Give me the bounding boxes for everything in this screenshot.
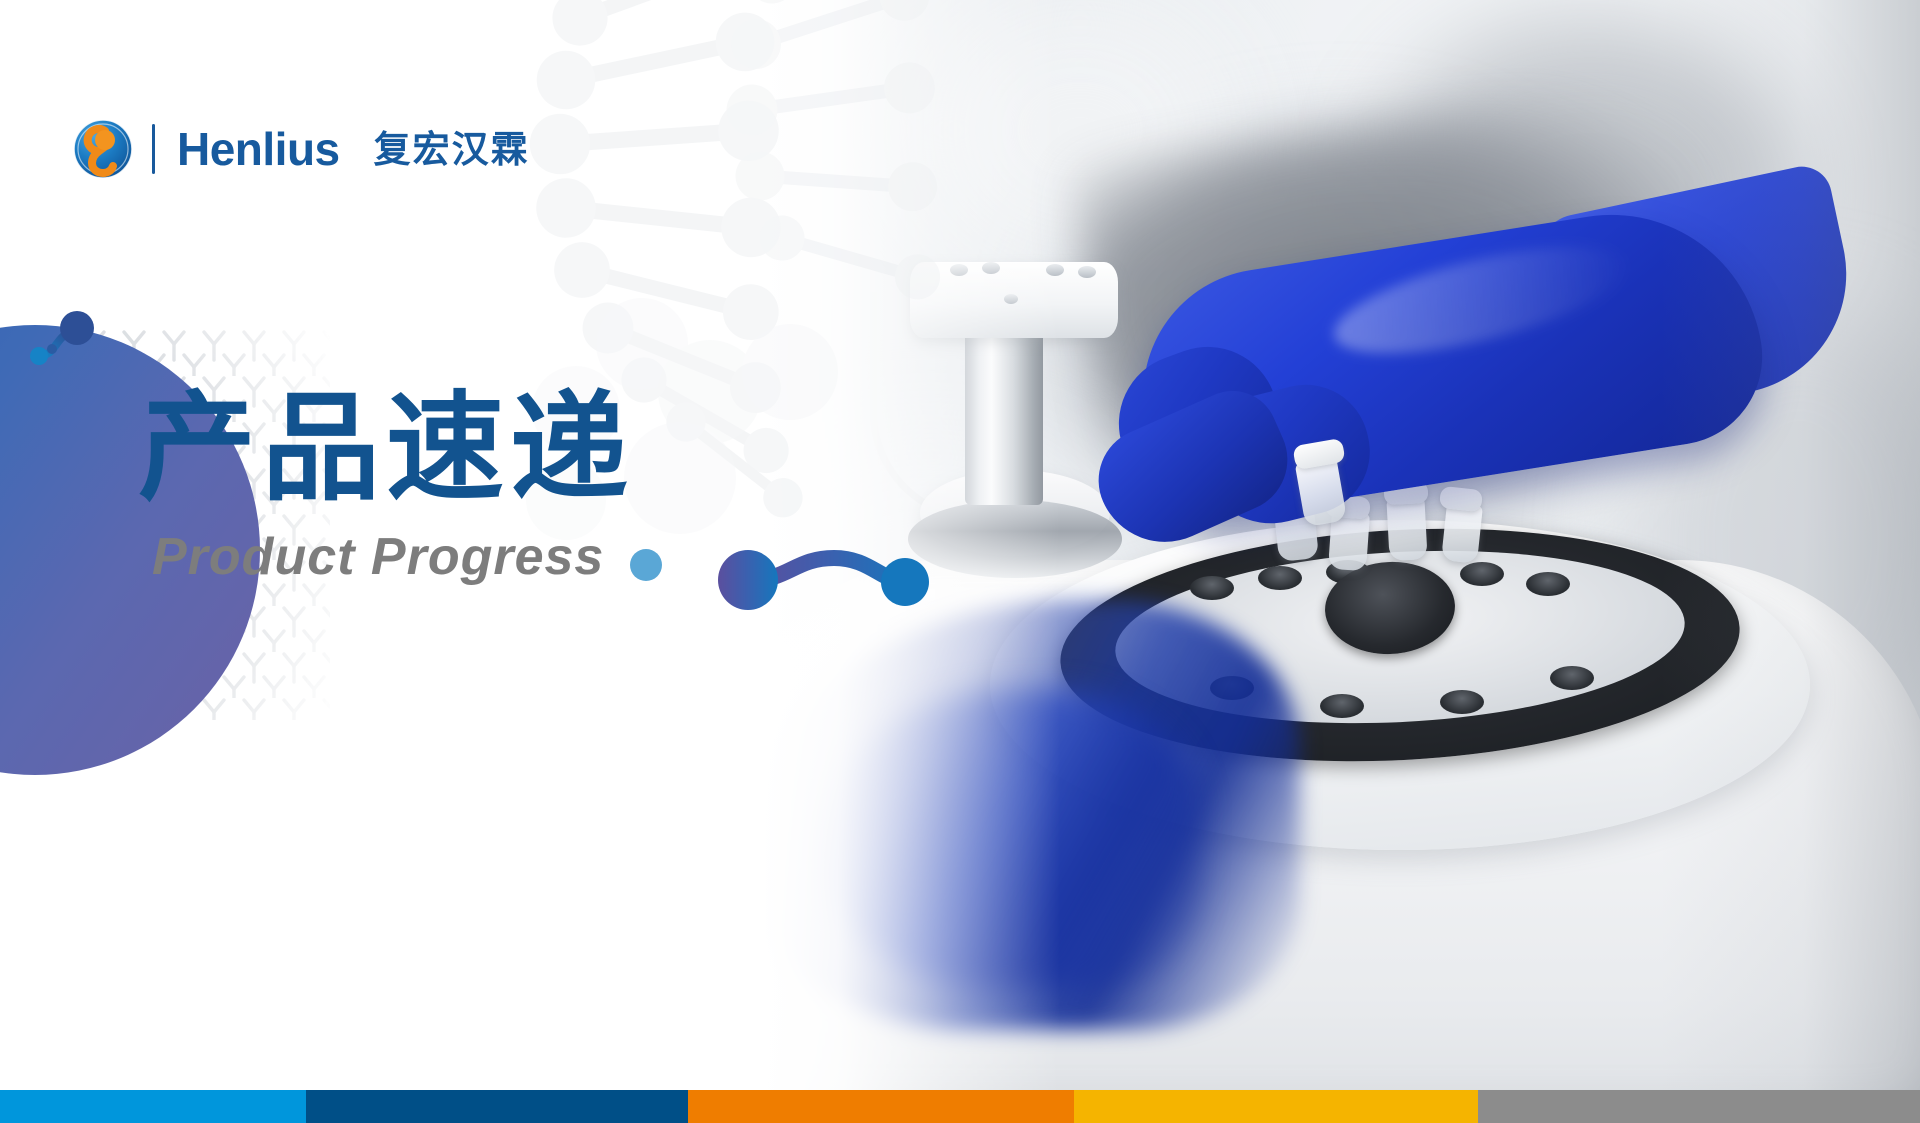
photo-vignette bbox=[1660, 0, 1920, 1090]
bar-segment-navy bbox=[306, 1090, 688, 1123]
slide-root: Henlius 复宏汉霖 产品速递 Product Progress bbox=[0, 0, 1920, 1123]
henlius-circle-logo-icon bbox=[72, 118, 134, 180]
rotor-hole bbox=[1440, 690, 1484, 714]
rotor-hole bbox=[1320, 694, 1364, 718]
page-title-en: Product Progress bbox=[152, 527, 604, 587]
brand-name-cn: 复宏汉霖 bbox=[374, 131, 530, 168]
bar-segment-gray bbox=[1478, 1090, 1920, 1123]
molecule-decor-icon bbox=[22, 305, 112, 385]
bar-segment-amber bbox=[1074, 1090, 1478, 1123]
bar-segment-orange bbox=[688, 1090, 1074, 1123]
rotor-hole bbox=[1550, 666, 1594, 690]
bottom-color-bar bbox=[0, 1090, 1920, 1123]
decorative-dot-light-blue bbox=[630, 549, 662, 581]
molecule-decor-icon bbox=[700, 540, 930, 620]
logo-divider bbox=[152, 124, 155, 174]
brand-name-en: Henlius bbox=[177, 126, 340, 172]
brand-logo: Henlius 复宏汉霖 bbox=[72, 118, 530, 180]
bar-segment-cyan bbox=[0, 1090, 306, 1123]
page-title-cn: 产品速递 bbox=[138, 388, 634, 512]
